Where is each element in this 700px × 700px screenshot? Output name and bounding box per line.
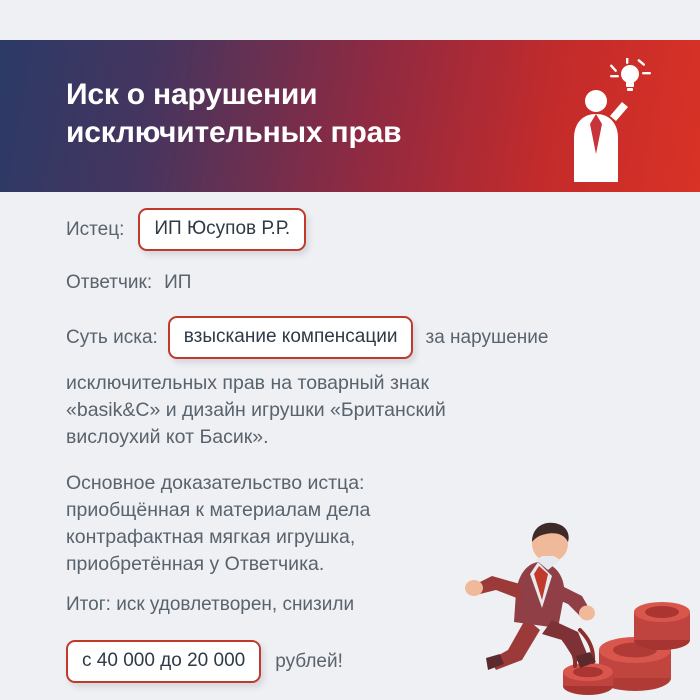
defendant-value: ИП <box>164 270 191 296</box>
infographic-page: Иск о нарушении исключительных прав <box>0 0 700 700</box>
header-banner: Иск о нарушении исключительных прав <box>0 40 700 192</box>
plaintiff-value-pill: ИП Юсупов Р.Р. <box>138 208 306 251</box>
plaintiff-row: Истец: ИП Юсупов Р.Р. <box>66 208 306 251</box>
page-title: Иск о нарушении исключительных прав <box>66 76 586 152</box>
claim-subject-text: исключительных прав на товарный знак «ba… <box>66 370 666 451</box>
running-man-with-coins-icon <box>430 500 690 700</box>
case-summary: Истец: ИП Юсупов Р.Р. Ответчик: ИП Суть … <box>0 192 700 700</box>
amount-value-pill: с 40 000 до 20 000 <box>66 640 261 683</box>
result-label: Итог: иск удовлетворен, снизили <box>66 592 354 618</box>
defendant-row: Ответчик: ИП <box>66 270 191 296</box>
defendant-label: Ответчик: <box>66 270 152 296</box>
plaintiff-label: Истец: <box>66 217 124 243</box>
claim-label: Суть иска: <box>66 325 158 351</box>
lawyer-with-lightbulb-icon <box>552 58 662 182</box>
claim-tail-text: за нарушение <box>425 325 548 351</box>
result-row: Итог: иск удовлетворен, снизили <box>66 592 354 618</box>
claim-row: Суть иска: взыскание компенсации за нару… <box>66 316 548 359</box>
amount-tail-text: рублей! <box>275 649 343 675</box>
claim-value-pill: взыскание компенсации <box>168 316 414 359</box>
amount-row: с 40 000 до 20 000 рублей! <box>66 640 343 683</box>
